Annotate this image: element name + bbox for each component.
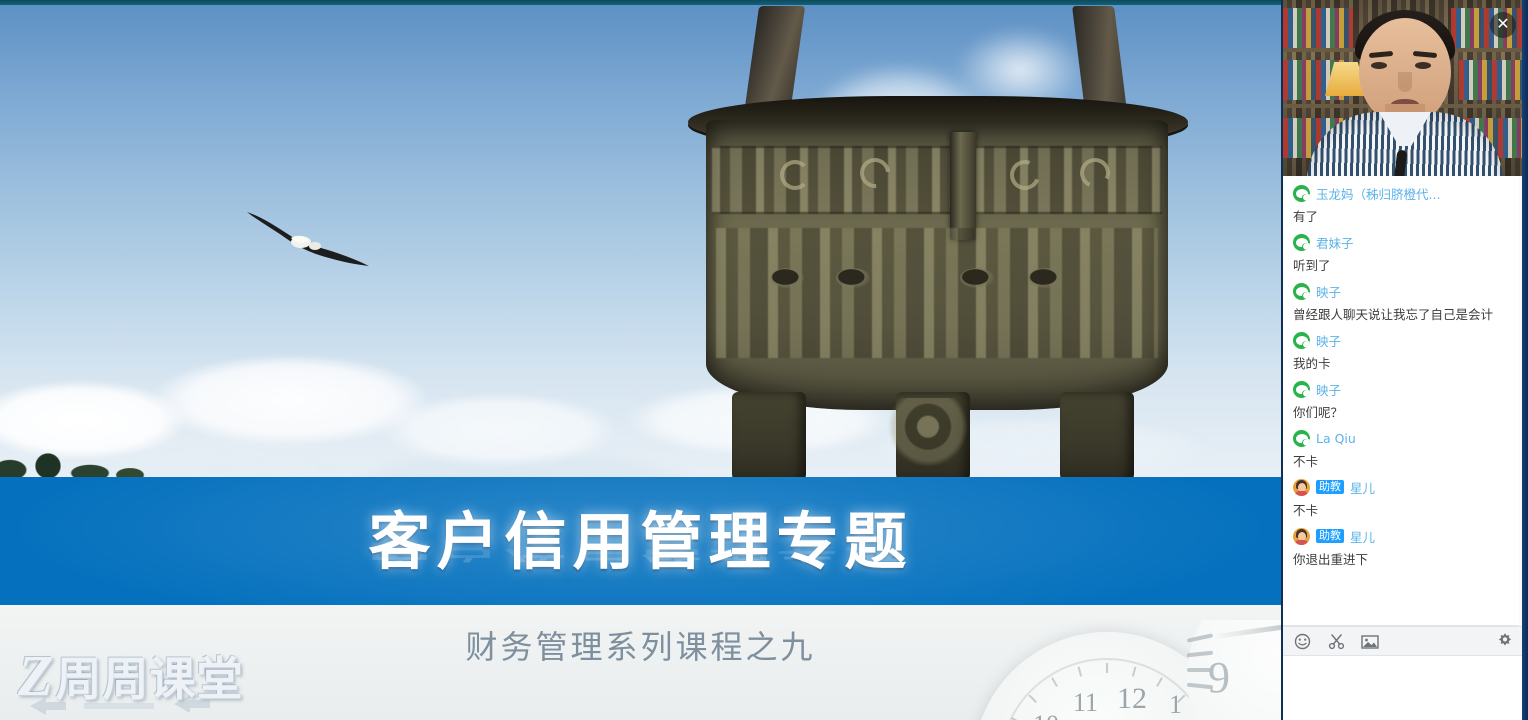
slide-top-border: [0, 0, 1281, 5]
page-subtitle: 财务管理系列课程之九: [0, 622, 1281, 668]
treeline: [0, 440, 160, 480]
image-icon[interactable]: [1361, 632, 1379, 650]
chat-toolbar: [1283, 626, 1524, 656]
chat-message: La Qiu不卡: [1283, 421, 1524, 470]
scissors-icon[interactable]: [1327, 632, 1345, 650]
presenter-figure: [1283, 0, 1524, 176]
girl-avatar[interactable]: [1293, 479, 1310, 496]
chat-message: 映子我的卡: [1283, 323, 1524, 372]
girl-avatar[interactable]: [1293, 528, 1310, 545]
role-badge: 助教: [1316, 529, 1344, 543]
chat-username[interactable]: 玉龙妈（秭归脐橙代...: [1316, 184, 1440, 203]
chat-message: 玉龙妈（秭归脐橙代...有了: [1283, 176, 1524, 225]
chat-username[interactable]: 映子: [1316, 380, 1341, 399]
chat-message-text: 不卡: [1293, 502, 1514, 519]
eagle-icon: [243, 208, 373, 270]
chat-username[interactable]: 星儿: [1350, 527, 1375, 546]
shared-slide[interactable]: 客户信用管理专题 客户信用管理专题 财务管理系列课程之九 10 11 12 1 …: [0, 0, 1281, 720]
chat-message-text: 不卡: [1293, 453, 1514, 470]
chat-message-text: 你们呢？: [1293, 404, 1514, 421]
close-icon[interactable]: ✕: [1490, 12, 1516, 38]
chat-username[interactable]: 映子: [1316, 282, 1341, 301]
bronze-ding-image: [660, 0, 1220, 480]
chat-message-text: 我的卡: [1293, 355, 1514, 372]
chat-username[interactable]: 星儿: [1350, 478, 1375, 497]
chat-username[interactable]: 君妹子: [1316, 233, 1354, 252]
right-sidebar: ✕ 玉龙妈（秭归脐橙代...有了君妹子听到了映子曾经跟人聊天说让我忘了自己是会计…: [1281, 0, 1528, 720]
chat-message: 映子曾经跟人聊天说让我忘了自己是会计: [1283, 274, 1524, 323]
wechat-avatar[interactable]: [1293, 283, 1310, 300]
wechat-avatar[interactable]: [1293, 332, 1310, 349]
gear-icon[interactable]: [1496, 632, 1514, 650]
chat-message: 助教星儿你退出重进下: [1283, 519, 1524, 568]
emoji-icon[interactable]: [1293, 632, 1311, 650]
presenter-video[interactable]: ✕: [1283, 0, 1524, 176]
chat-message: 助教星儿不卡: [1283, 470, 1524, 519]
chat-message: 映子你们呢？: [1283, 372, 1524, 421]
chat-message-list[interactable]: 玉龙妈（秭归脐橙代...有了君妹子听到了映子曾经跟人聊天说让我忘了自己是会计映子…: [1283, 176, 1524, 626]
wechat-avatar[interactable]: [1293, 234, 1310, 251]
logo-arrows-icon: [26, 692, 216, 718]
conference-window: 客户信用管理专题 客户信用管理专题 财务管理系列课程之九 10 11 12 1 …: [0, 0, 1528, 720]
title-banner: 客户信用管理专题 客户信用管理专题: [0, 477, 1281, 605]
page-title-reflection: 客户信用管理专题: [0, 531, 1281, 572]
chat-username[interactable]: La Qiu: [1316, 431, 1356, 446]
wechat-avatar[interactable]: [1293, 430, 1310, 447]
window-right-border: [1522, 0, 1528, 720]
chat-input[interactable]: [1283, 657, 1524, 720]
wechat-avatar[interactable]: [1293, 381, 1310, 398]
chat-message: 君妹子听到了: [1283, 225, 1524, 274]
role-badge: 助教: [1316, 480, 1344, 494]
chat-username[interactable]: 映子: [1316, 331, 1341, 350]
chat-message-text: 有了: [1293, 208, 1514, 225]
wechat-avatar[interactable]: [1293, 185, 1310, 202]
chat-message-text: 你退出重进下: [1293, 551, 1514, 568]
chat-message-text: 听到了: [1293, 257, 1514, 274]
chat-message-text: 曾经跟人聊天说让我忘了自己是会计: [1293, 306, 1514, 323]
